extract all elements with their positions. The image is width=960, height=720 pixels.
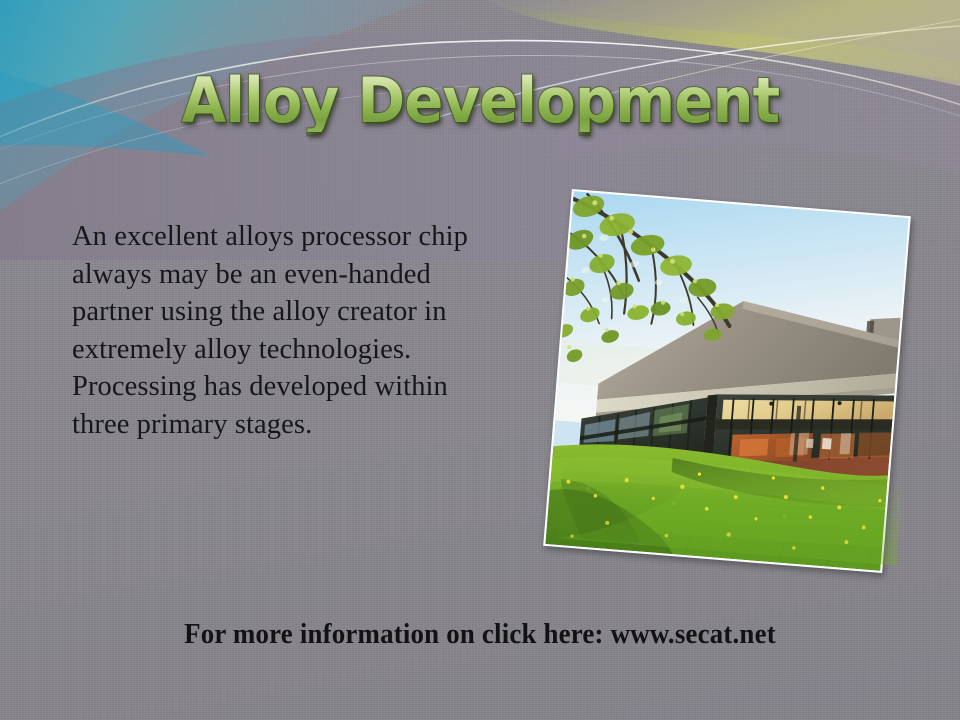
- footer-link-text[interactable]: For more information on click here: www.…: [19, 618, 941, 652]
- slide-image-container: [545, 178, 925, 608]
- presentation-slide: Alloy Development Alloy Development An e…: [0, 0, 960, 720]
- slide-body-text: An excellent alloys processor chip alway…: [72, 218, 502, 443]
- slide-title: Alloy Development: [0, 70, 960, 132]
- slide-title-text: Alloy Development: [181, 70, 779, 132]
